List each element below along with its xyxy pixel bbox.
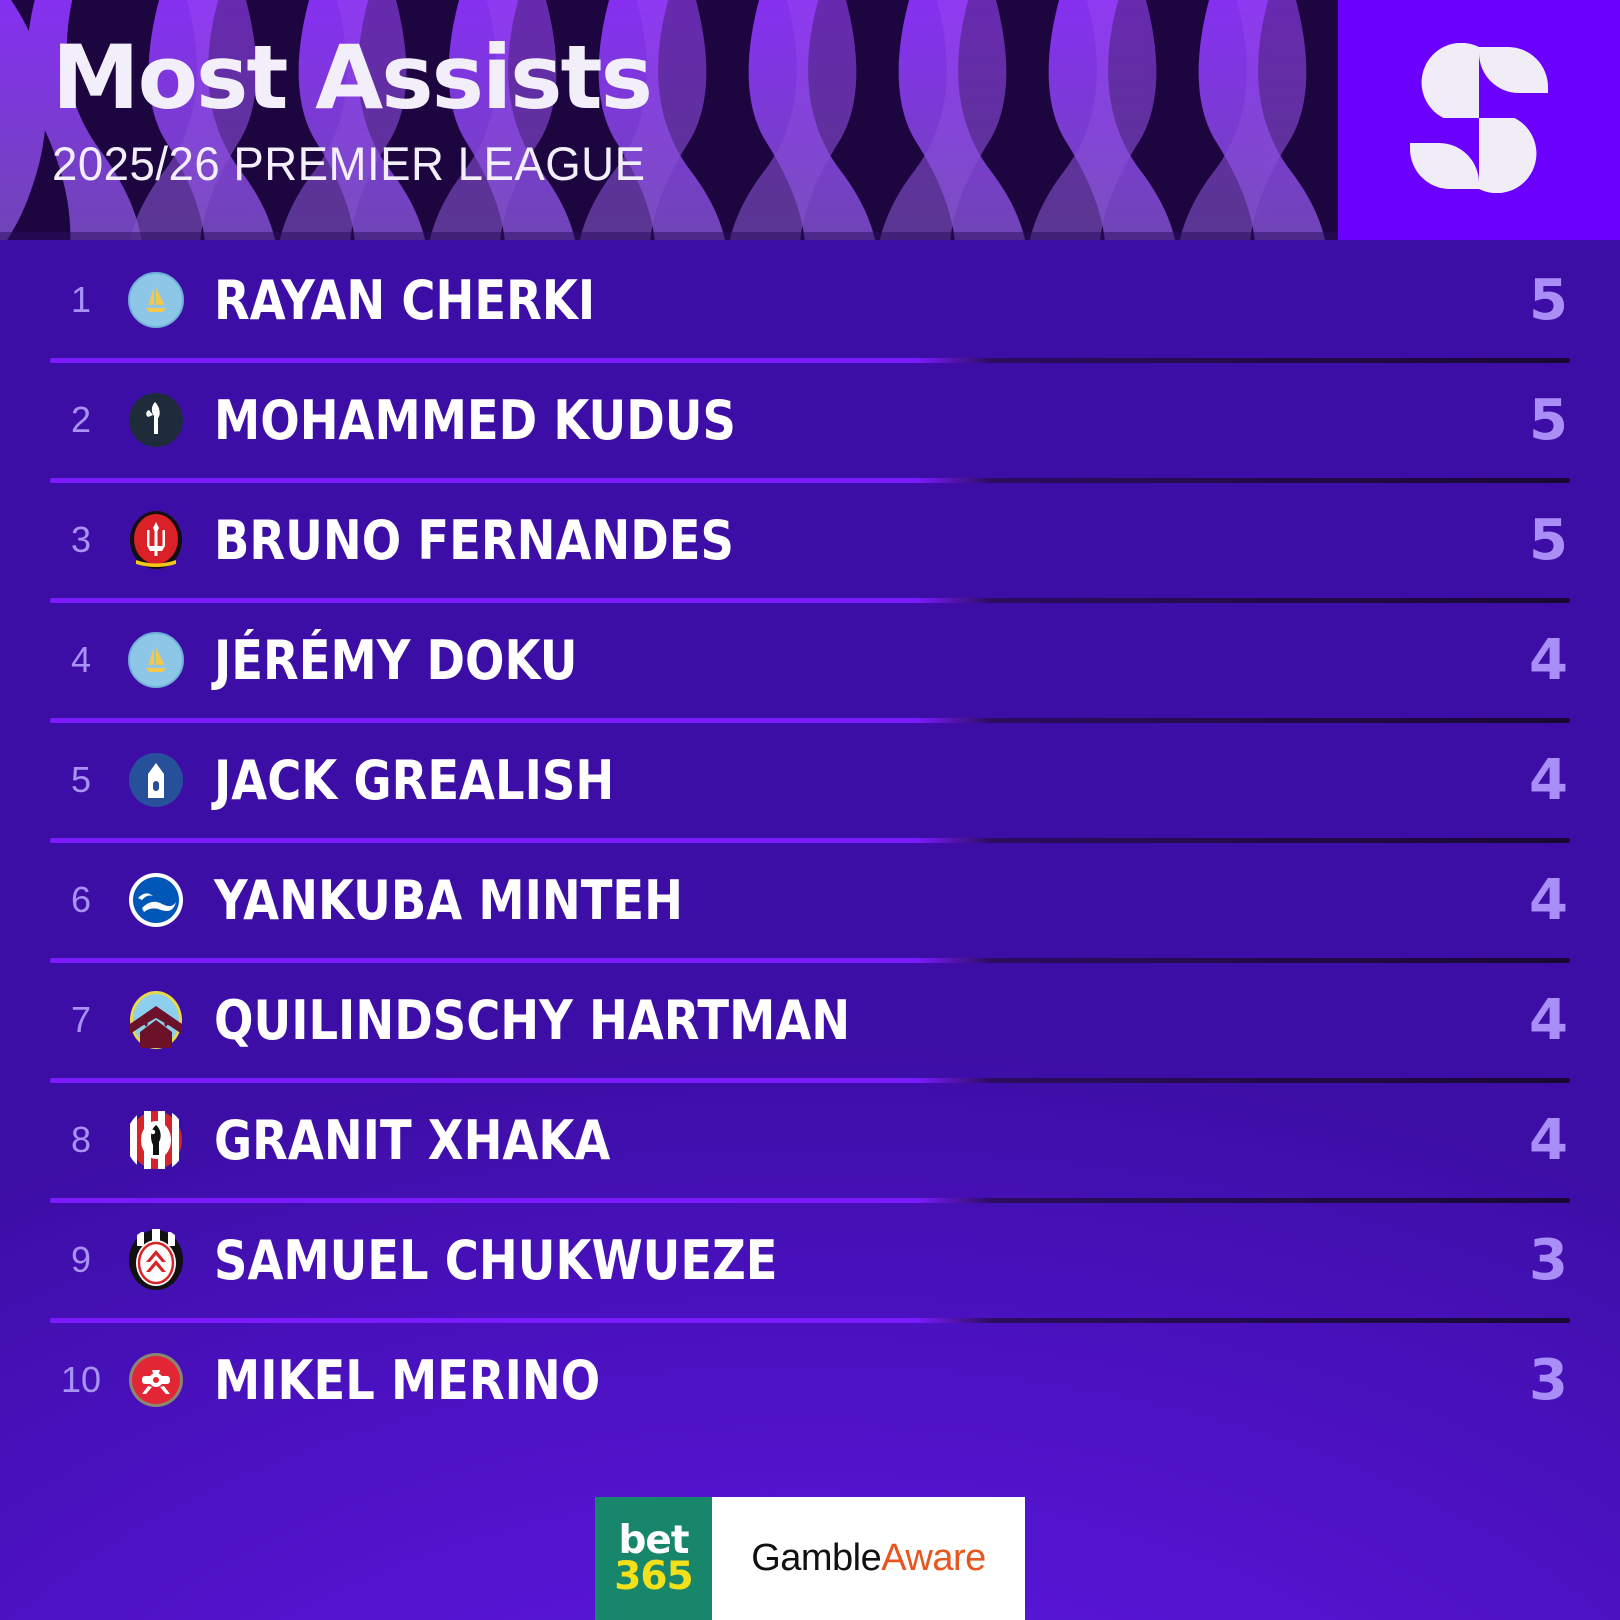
everton-badge (126, 748, 186, 812)
page-subtitle: 2025/26 PREMIER LEAGUE (52, 140, 645, 187)
man-city-badge (126, 628, 186, 692)
table-row[interactable]: 7 QUILINDSCHY HARTMAN 4 (0, 960, 1620, 1080)
poster-header: Most Assists 2025/26 PREMIER LEAGUE (0, 0, 1620, 240)
row-rank: 7 (50, 999, 112, 1041)
row-rank: 9 (50, 1239, 112, 1281)
row-rank: 4 (50, 639, 112, 681)
table-row[interactable]: 6 YANKUBA MINTEH 4 (0, 840, 1620, 960)
gambleaware-gamble-text: Gamble (751, 1537, 881, 1580)
row-player-name: RAYAN CHERKI (214, 269, 595, 332)
gambleaware-logo[interactable]: GambleAware (712, 1497, 1025, 1620)
tottenham-badge (126, 388, 186, 452)
gambleaware-aware-text: Aware (881, 1537, 986, 1580)
row-value: 4 (1529, 1108, 1568, 1173)
row-value: 5 (1529, 268, 1568, 333)
crystal-palace-badge (126, 988, 186, 1052)
row-value: 5 (1529, 388, 1568, 453)
row-value: 4 (1529, 868, 1568, 933)
row-player-name: JÉRÉMY DOKU (214, 629, 577, 692)
row-player-name: YANKUBA MINTEH (214, 869, 683, 932)
bet365-logo[interactable]: bet 365 (595, 1497, 712, 1620)
table-row[interactable]: 9 SAMUEL CHUKWUEZE 3 (0, 1200, 1620, 1320)
row-player-name: JACK GREALISH (214, 749, 614, 812)
fulham-badge (126, 1228, 186, 1292)
row-rank: 6 (50, 879, 112, 921)
row-player-name: MIKEL MERINO (214, 1349, 600, 1412)
table-row[interactable]: 1 RAYAN CHERKI 5 (0, 240, 1620, 360)
leaderboard-list: 1 RAYAN CHERKI 5 2 MOHAMMED KUDUS 5 3 BR… (0, 240, 1620, 1440)
sunderland-badge (126, 1108, 186, 1172)
row-rank: 10 (50, 1359, 112, 1401)
sofascore-logo-icon (1410, 43, 1548, 198)
man-city-badge (126, 268, 186, 332)
table-row[interactable]: 5 JACK GREALISH 4 (0, 720, 1620, 840)
bet365-365-text: 365 (614, 1559, 692, 1595)
table-row[interactable]: 8 GRANIT XHAKA 4 (0, 1080, 1620, 1200)
page-title: Most Assists (52, 34, 664, 122)
table-row[interactable]: 3 BRUNO FERNANDES 5 (0, 480, 1620, 600)
row-player-name: BRUNO FERNANDES (214, 509, 734, 572)
sofascore-logo-panel (1338, 0, 1620, 240)
row-rank: 2 (50, 399, 112, 441)
brighton-badge (126, 868, 186, 932)
table-row[interactable]: 10 MIKEL MERINO 3 (0, 1320, 1620, 1440)
row-rank: 5 (50, 759, 112, 801)
sponsor-footer: bet 365 GambleAware (595, 1497, 1025, 1620)
row-value: 3 (1529, 1348, 1568, 1413)
man-united-badge (126, 508, 186, 572)
row-player-name: SAMUEL CHUKWUEZE (214, 1229, 778, 1292)
header-text-block: Most Assists 2025/26 PREMIER LEAGUE (52, 34, 664, 187)
row-rank: 3 (50, 519, 112, 561)
row-player-name: QUILINDSCHY HARTMAN (214, 989, 850, 1052)
row-rank: 8 (50, 1119, 112, 1161)
row-value: 4 (1529, 628, 1568, 693)
row-value: 5 (1529, 508, 1568, 573)
row-value: 4 (1529, 748, 1568, 813)
most-assists-poster: Most Assists 2025/26 PREMIER LEAGUE 1 (0, 0, 1620, 1620)
table-row[interactable]: 4 JÉRÉMY DOKU 4 (0, 600, 1620, 720)
row-player-name: MOHAMMED KUDUS (214, 389, 736, 452)
table-row[interactable]: 2 MOHAMMED KUDUS 5 (0, 360, 1620, 480)
row-value: 4 (1529, 988, 1568, 1053)
row-value: 3 (1529, 1228, 1568, 1293)
row-rank: 1 (50, 279, 112, 321)
row-player-name: GRANIT XHAKA (214, 1109, 610, 1172)
arsenal-badge (126, 1348, 186, 1412)
